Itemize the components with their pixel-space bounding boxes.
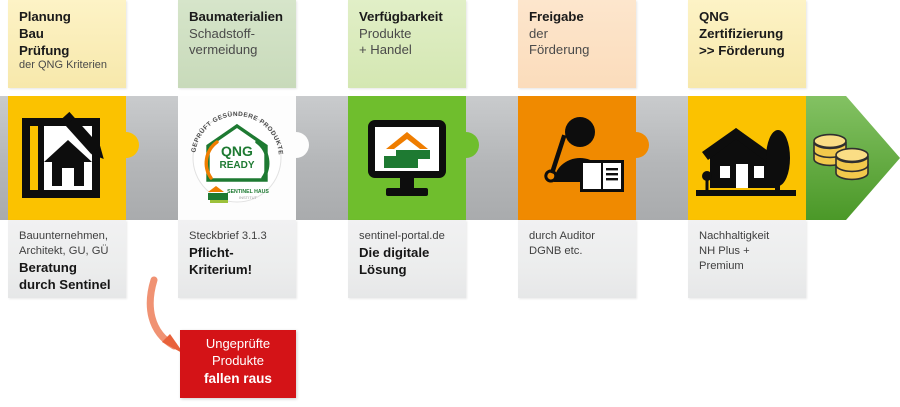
warning-line-1: Ungeprüfte: [180, 336, 296, 353]
step-icon-tile-qng-zertifizierung: [688, 96, 806, 220]
header-line-2: der: [529, 26, 626, 42]
seal-center-line-1: QNG: [221, 143, 253, 159]
note-line-1: durch Auditor: [529, 229, 627, 244]
header-line-3: Prüfung: [19, 43, 116, 60]
note-bold-1: Beratung: [19, 259, 117, 276]
step-icon-tile-freigabe: [518, 96, 636, 220]
note-line-2: DGNB etc.: [529, 244, 627, 259]
auditor-person-book-icon: [518, 96, 636, 220]
header-line-3: + Handel: [359, 42, 456, 58]
note-line-2: Architekt, GU, GÜ: [19, 244, 117, 259]
note-bold-1: Pflicht-: [189, 244, 287, 261]
seal-center-line-2: READY: [219, 160, 254, 171]
step-note-qng-zertifizierung: Nachhaltigkeit NH Plus + Premium: [688, 220, 806, 298]
house-tree-icon: [688, 96, 806, 220]
blueprint-pencil-icon: [8, 96, 126, 220]
step-note-verfuegbarkeit: sentinel-portal.de Die digitale Lösung: [348, 220, 466, 298]
step-icon-tile-planung: [8, 96, 126, 220]
note-line-1: Steckbrief 3.1.3: [189, 229, 287, 244]
step-icon-tile-verfuegbarkeit: [348, 96, 466, 220]
step-note-freigabe: durch Auditor DGNB etc.: [518, 220, 636, 298]
step-icon-tile-baumaterialien: GEPRÜFT GESÜNDERE PRODUKTE QNG READY SEN…: [178, 96, 296, 220]
warning-bold: fallen raus: [180, 370, 296, 388]
header-line-1: Planung: [19, 9, 116, 26]
note-bold-2: Lösung: [359, 261, 457, 278]
note-line-2: NH Plus + Premium: [699, 244, 797, 274]
note-bold-2: durch Sentinel: [19, 276, 117, 293]
header-line-2: Produkte: [359, 26, 456, 42]
header-line-1: Freigabe: [529, 9, 626, 26]
header-line-2: Bau: [19, 26, 116, 43]
header-line-4: der QNG Kriterien: [19, 59, 116, 73]
header-line-2: Schadstoff-: [189, 26, 286, 42]
note-line-1: Nachhaltigkeit: [699, 229, 797, 244]
step-baumaterialien: Baumaterialien Schadstoff- vermeidung GE…: [178, 0, 296, 88]
warning-callout: Ungeprüfte Produkte fallen raus: [180, 330, 296, 398]
step-header-baumaterialien: Baumaterialien Schadstoff- vermeidung: [178, 0, 296, 88]
header-line-1: Verfügbarkeit: [359, 9, 456, 26]
note-bold-1: Die digitale: [359, 244, 457, 261]
header-line-1: QNG: [699, 9, 796, 26]
step-planung: Planung Bau Prüfung der QNG Kriterien: [8, 0, 126, 88]
step-header-freigabe: Freigabe der Förderung: [518, 0, 636, 88]
infographic-canvas: Planung Bau Prüfung der QNG Kriterien: [0, 0, 900, 407]
step-qng-zertifizierung: QNG Zertifizierung >> Förderung: [688, 0, 806, 88]
seal-brand-line-2: INSTITUT: [239, 195, 258, 200]
step-header-qng-zertifizierung: QNG Zertifizierung >> Förderung: [688, 0, 806, 88]
header-line-3: Förderung: [529, 42, 626, 58]
note-line-1: sentinel-portal.de: [359, 229, 457, 244]
monitor-portal-icon: [348, 96, 466, 220]
step-verfuegbarkeit: Verfügbarkeit Produkte + Handel sentinel…: [348, 0, 466, 88]
qng-ready-seal-icon: GEPRÜFT GESÜNDERE PRODUKTE QNG READY SEN…: [178, 96, 296, 220]
step-note-planung: Bauunternehmen, Architekt, GU, GÜ Beratu…: [8, 220, 126, 298]
header-line-3: >> Förderung: [699, 43, 796, 60]
header-line-3: vermeidung: [189, 42, 286, 58]
header-line-2: Zertifizierung: [699, 26, 796, 43]
step-header-planung: Planung Bau Prüfung der QNG Kriterien: [8, 0, 126, 88]
step-header-verfuegbarkeit: Verfügbarkeit Produkte + Handel: [348, 0, 466, 88]
header-line-1: Baumaterialien: [189, 9, 286, 26]
step-freigabe: Freigabe der Förderung: [518, 0, 636, 88]
warning-line-2: Produkte: [180, 353, 296, 370]
note-line-1: Bauunternehmen,: [19, 229, 117, 244]
